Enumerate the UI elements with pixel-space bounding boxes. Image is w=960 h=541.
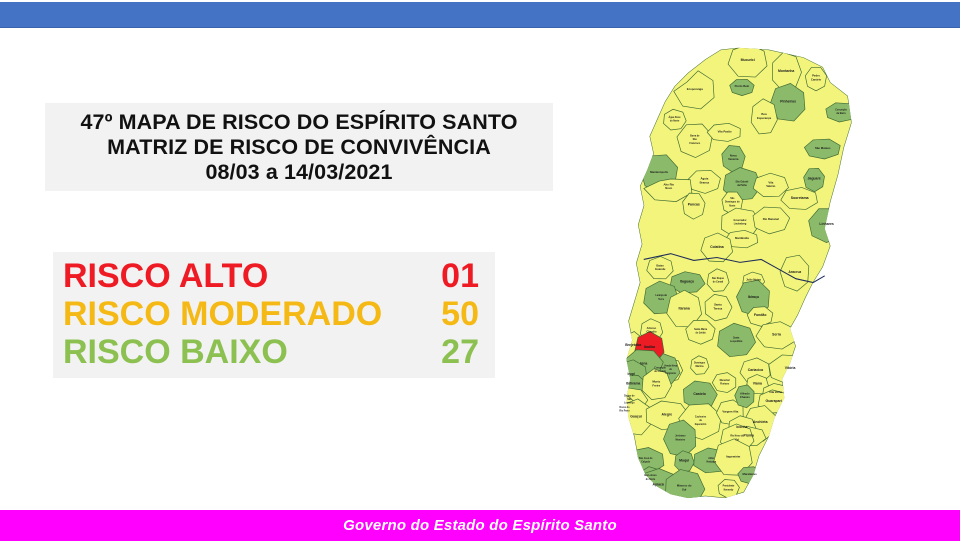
legend-row-high: RISCO ALTO 01 [63, 256, 485, 296]
title-line-2: MATRIZ DE RISCO DE CONVIVÊNCIA [107, 135, 491, 160]
slide-root: 47º MAPA DE RISCO DO ESPÍRITO SANTO MATR… [0, 0, 960, 541]
legend-label-moderate: RISCO MODERADO [63, 294, 382, 334]
espirito-santo-risk-map: MucuriciMontanhaPedroCanárioEcoporangaPo… [520, 40, 960, 502]
legend-count-high: 01 [441, 256, 479, 296]
top-blue-band [0, 2, 960, 28]
legend-label-low: RISCO BAIXO [63, 332, 288, 372]
title-line-3: 08/03 a 14/03/2021 [205, 160, 392, 185]
risk-legend: RISCO ALTO 01 RISCO MODERADO 50 RISCO BA… [53, 252, 495, 378]
legend-row-low: RISCO BAIXO 27 [63, 332, 485, 372]
municipality-shapes [611, 44, 857, 502]
legend-label-high: RISCO ALTO [63, 256, 268, 296]
footer-band: Governo do Estado do Espírito Santo [0, 510, 960, 541]
map-svg: MucuriciMontanhaPedroCanárioEcoporangaPo… [520, 40, 960, 502]
legend-count-moderate: 50 [441, 294, 479, 334]
title-block: 47º MAPA DE RISCO DO ESPÍRITO SANTO MATR… [45, 103, 553, 191]
footer-text: Governo do Estado do Espírito Santo [343, 517, 617, 534]
legend-row-moderate: RISCO MODERADO 50 [63, 294, 485, 334]
title-line-1: 47º MAPA DE RISCO DO ESPÍRITO SANTO [80, 110, 517, 135]
legend-count-low: 27 [441, 332, 479, 372]
